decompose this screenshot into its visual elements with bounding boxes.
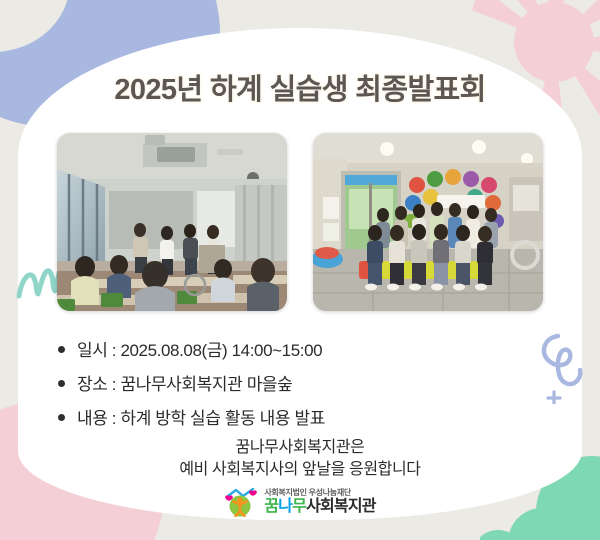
bullet-dot-icon [58,380,65,387]
bullet-dot-icon [58,346,65,353]
promo-poster: 2025년 하계 실습생 최종발표회 [0,0,600,540]
photo-gallery [57,133,543,311]
organization-logo: 사회복지법인 우성나눔재단 꿈나무사회복지관 [0,487,600,517]
closing-message: 꿈나무사회복지관은 예비 사회복지사의 앞날을 응원합니다 [0,437,600,480]
logo-char-rest: 사회복지관 [306,498,376,515]
closing-line-1: 꿈나무사회복지관은 [0,437,600,459]
list-item: 장소 : 꿈나무사회복지관 마을숲 [58,370,528,395]
kkumnamu-logo-mark-icon [224,487,258,517]
closing-line-2: 예비 사회복지사의 앞날을 응원합니다 [0,459,600,481]
detail-content: 내용 : 하계 방학 실습 활동 내용 발표 [77,404,325,429]
event-details-list: 일시 : 2025.08.08(금) 14:00~15:00 장소 : 꿈나무사… [58,336,528,438]
logo-wordmark: 꿈나무사회복지관 [264,499,375,515]
page-title: 2025년 하계 실습생 최종발표회 [0,66,600,108]
list-item: 일시 : 2025.08.08(금) 14:00~15:00 [58,336,528,361]
logo-char-kkum: 꿈 [264,498,278,515]
bullet-dot-icon [58,414,65,421]
logo-char-na: 나 [278,498,292,515]
detail-location: 장소 : 꿈나무사회복지관 마을숲 [77,370,292,395]
logo-char-mu: 무 [292,498,306,515]
list-item: 내용 : 하계 방학 실습 활동 내용 발표 [58,404,528,429]
logo-foundation-text: 사회복지법인 우성나눔재단 [264,489,375,497]
poster-content: 2025년 하계 실습생 최종발표회 [0,0,600,540]
presentation-room-photo [57,133,287,311]
group-photo [313,133,543,311]
detail-datetime: 일시 : 2025.08.08(금) 14:00~15:00 [77,336,322,361]
